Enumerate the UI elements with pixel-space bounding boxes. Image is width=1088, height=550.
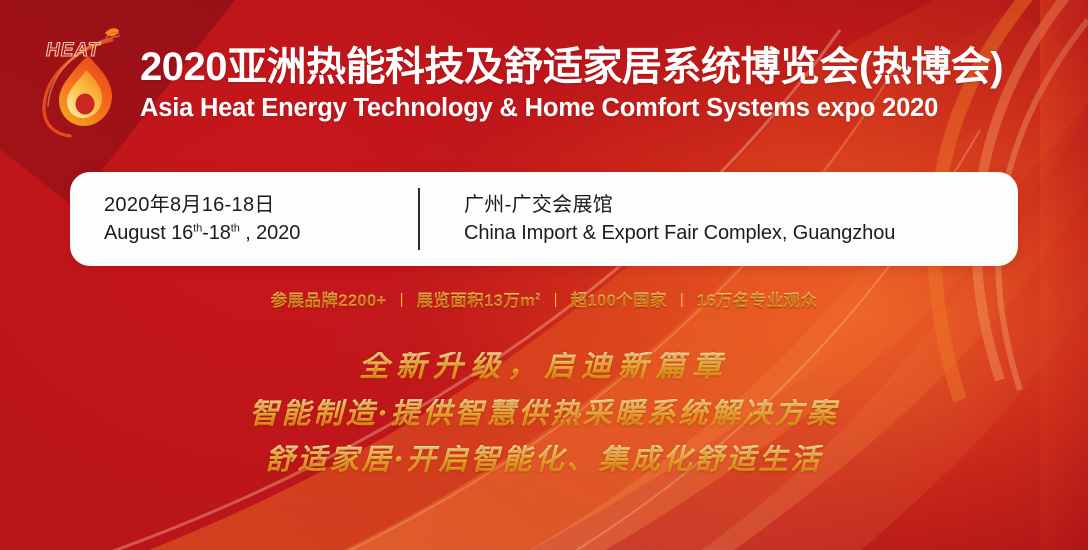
event-date-en-mid: -18	[202, 222, 231, 244]
event-venue-cn: 广州-广交会展馆	[464, 191, 895, 219]
event-venue-block: 广州-广交会展馆 China Import & Export Fair Comp…	[420, 191, 895, 248]
slogan-line-2: 智能制造·提供智慧供热采暖系统解决方案	[0, 399, 1088, 428]
event-venue-en: China Import & Export Fair Complex, Guan…	[464, 219, 895, 247]
event-info-card: 2020年8月16-18日 August 16th-18th , 2020 广州…	[70, 172, 1018, 266]
banner-titles: 2020亚洲热能科技及舒适家居系统博览会(热博会) Asia Heat Ener…	[140, 22, 1003, 123]
event-date-en-prefix: August 16	[104, 222, 193, 244]
stat-brands-label: 参展品牌2200+	[271, 292, 387, 310]
heat-logo: HEAT	[26, 22, 134, 140]
event-date-en-suffix: , 2020	[240, 222, 300, 244]
banner-header: HEAT 2020亚洲热能科技及舒适家居系统博览会(热博会) Asia Heat…	[26, 22, 1003, 140]
stat-visitors-label: 16万名专业观众	[697, 292, 818, 310]
stat-visitors: 16万名专业观众	[697, 287, 818, 311]
slogan-block: 全新升级，启迪新篇章 智能制造·提供智慧供热采暖系统解决方案 舒适家居·开启智能…	[0, 352, 1088, 474]
expo-banner: HEAT 2020亚洲热能科技及舒适家居系统博览会(热博会) Asia Heat…	[0, 0, 1088, 550]
event-date-cn: 2020年8月16-18日	[104, 191, 418, 219]
event-date-en-sup1: th	[193, 222, 202, 234]
slogan-line-3: 舒适家居·开启智能化、集成化舒适生活	[0, 445, 1088, 474]
slogan-line-1: 全新升级，启迪新篇章	[0, 352, 1088, 382]
stat-area-label: 展览面积13万m	[417, 292, 536, 310]
event-date-en: August 16th-18th , 2020	[104, 219, 418, 247]
stat-brands: 参展品牌2200+	[271, 287, 387, 311]
page-title-en: Asia Heat Energy Technology & Home Comfo…	[140, 94, 1003, 123]
page-title-cn: 2020亚洲热能科技及舒适家居系统博览会(热博会)	[140, 46, 1003, 89]
stat-countries-label: 超100个国家	[571, 292, 667, 310]
event-stats-strip: 参展品牌2200+ | 展览面积13万m2 | 超100个国家 | 16万名专业…	[0, 287, 1088, 311]
stat-countries: 超100个国家	[571, 287, 667, 311]
stat-separator-2: |	[541, 291, 571, 308]
stat-area: 展览面积13万m2	[417, 287, 541, 311]
stat-separator-3: |	[667, 291, 697, 308]
stat-separator-1: |	[387, 291, 417, 308]
heat-wordmark: HEAT	[46, 40, 101, 61]
event-date-block: 2020年8月16-18日 August 16th-18th , 2020	[70, 191, 418, 248]
event-date-en-sup2: th	[231, 222, 240, 234]
